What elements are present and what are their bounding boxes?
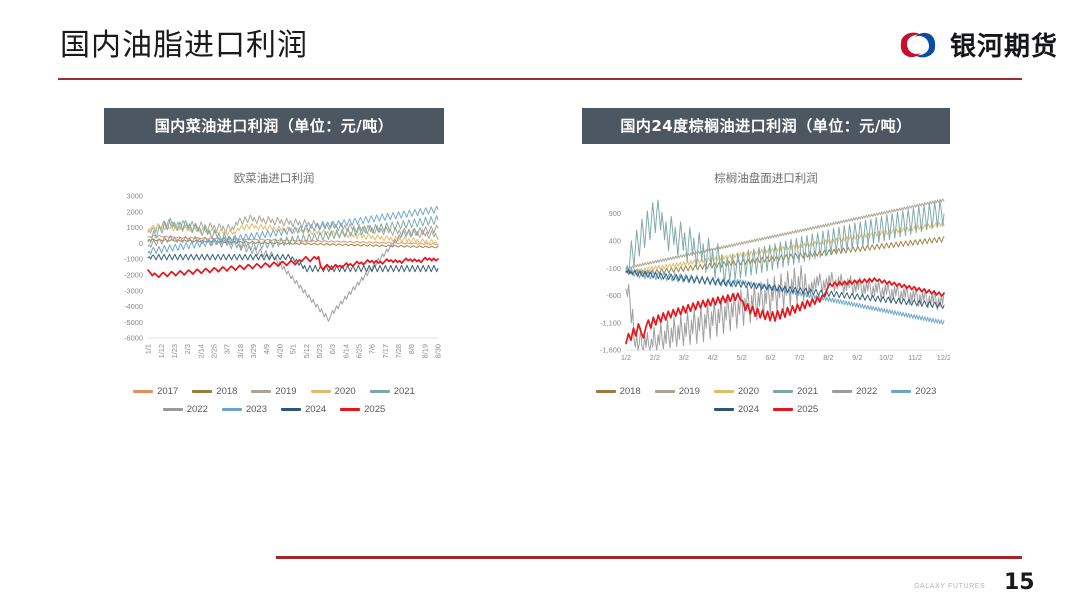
- svg-text:-4000: -4000: [124, 302, 143, 311]
- legend-swatch-2023: [222, 408, 242, 411]
- legend-item-2023[interactable]: 2023: [891, 386, 936, 397]
- chart-left-legend: 201720182019202020212022202320242025: [104, 386, 444, 415]
- svg-text:8/30: 8/30: [434, 344, 443, 358]
- legend-label-2025: 2025: [364, 404, 385, 415]
- legend-label-2020: 2020: [335, 386, 356, 397]
- legend-label-2024: 2024: [738, 404, 759, 415]
- panel-right-header: 国内24度棕榈油进口利润（单位：元/吨）: [582, 108, 950, 144]
- legend-label-2021: 2021: [797, 386, 818, 397]
- svg-text:10/2: 10/2: [879, 353, 893, 362]
- svg-text:2000: 2000: [127, 207, 143, 216]
- legend-label-2019: 2019: [679, 386, 700, 397]
- svg-text:3/2: 3/2: [679, 353, 689, 362]
- legend-item-2022[interactable]: 2022: [163, 404, 208, 415]
- legend-item-2018[interactable]: 2018: [192, 386, 237, 397]
- legend-item-2019[interactable]: 2019: [251, 386, 296, 397]
- legend-item-2025[interactable]: 2025: [340, 404, 385, 415]
- chart-rapeseed-oil-import-profit: 欧菜油进口利润 3000200010000-1000-2000-3000-400…: [104, 170, 444, 415]
- legend-label-2025: 2025: [797, 404, 818, 415]
- svg-text:2/2: 2/2: [650, 353, 660, 362]
- legend-swatch-2019: [251, 390, 271, 393]
- svg-text:8/19: 8/19: [420, 344, 429, 358]
- page-header: 国内油脂进口利润 银河期货: [0, 0, 1080, 88]
- legend-swatch-2020: [714, 390, 734, 393]
- svg-text:2/3: 2/3: [183, 344, 192, 354]
- svg-text:-3000: -3000: [124, 286, 143, 295]
- legend-item-2017[interactable]: 2017: [133, 386, 178, 397]
- svg-text:3/7: 3/7: [223, 344, 232, 354]
- svg-text:-1000: -1000: [124, 255, 143, 264]
- svg-text:-1,600: -1,600: [600, 346, 621, 355]
- svg-text:7/2: 7/2: [794, 353, 804, 362]
- svg-text:400: 400: [609, 237, 621, 246]
- svg-text:3/18: 3/18: [236, 344, 245, 358]
- legend-label-2023: 2023: [246, 404, 267, 415]
- panel-rapeseed-oil: 国内菜油进口利润（单位：元/吨） 欧菜油进口利润 3000200010000-1…: [104, 108, 444, 415]
- legend-item-2020[interactable]: 2020: [311, 386, 356, 397]
- legend-label-2018: 2018: [620, 386, 641, 397]
- svg-text:6/3: 6/3: [328, 344, 337, 354]
- svg-text:5/1: 5/1: [289, 344, 298, 354]
- chart-palm-oil-import-profit: 棕榈油盘面进口利润 900400-100-600-1,100-1,6001/22…: [582, 170, 950, 415]
- legend-swatch-2025: [773, 408, 793, 411]
- footer-divider: [276, 556, 1022, 559]
- legend-item-2019[interactable]: 2019: [655, 386, 700, 397]
- svg-text:7/28: 7/28: [394, 344, 403, 358]
- chart-left-svg: 3000200010000-1000-2000-3000-4000-5000-6…: [104, 190, 444, 370]
- legend-swatch-2022: [832, 390, 852, 393]
- legend-label-2019: 2019: [275, 386, 296, 397]
- chart-left-title: 欧菜油进口利润: [104, 170, 444, 186]
- svg-text:7/6: 7/6: [368, 344, 377, 354]
- legend-item-2020[interactable]: 2020: [714, 386, 759, 397]
- svg-text:5/2: 5/2: [736, 353, 746, 362]
- svg-text:-100: -100: [606, 264, 621, 273]
- panel-palm-oil: 国内24度棕榈油进口利润（单位：元/吨） 棕榈油盘面进口利润 900400-10…: [582, 108, 950, 415]
- svg-text:4/20: 4/20: [275, 344, 284, 358]
- svg-text:11/2: 11/2: [908, 353, 922, 362]
- svg-text:6/14: 6/14: [341, 344, 350, 358]
- svg-text:8/2: 8/2: [823, 353, 833, 362]
- svg-text:8/8: 8/8: [407, 344, 416, 354]
- galaxy-swirl-logo-icon: [895, 28, 941, 62]
- footer-brand-text: GALAXY FUTURES: [914, 583, 985, 590]
- svg-text:5/23: 5/23: [315, 344, 324, 358]
- legend-label-2022: 2022: [187, 404, 208, 415]
- svg-text:3000: 3000: [127, 192, 143, 201]
- legend-item-2023[interactable]: 2023: [222, 404, 267, 415]
- legend-label-2018: 2018: [216, 386, 237, 397]
- legend-swatch-2024: [714, 408, 734, 411]
- svg-text:3/29: 3/29: [249, 344, 258, 358]
- chart-left-plot: 3000200010000-1000-2000-3000-4000-5000-6…: [104, 190, 444, 370]
- svg-text:-5000: -5000: [124, 318, 143, 327]
- chart-right-svg: 900400-100-600-1,100-1,6001/22/23/24/25/…: [582, 190, 950, 370]
- legend-item-2024[interactable]: 2024: [281, 404, 326, 415]
- svg-text:7/17: 7/17: [381, 344, 390, 358]
- svg-text:900: 900: [609, 209, 621, 218]
- svg-text:2/25: 2/25: [210, 344, 219, 358]
- chart-right-legend: 20182019202020212022202320242025: [582, 386, 950, 415]
- svg-text:-600: -600: [606, 291, 621, 300]
- legend-item-2024[interactable]: 2024: [714, 404, 759, 415]
- legend-swatch-2018: [192, 390, 212, 393]
- svg-text:1/23: 1/23: [170, 344, 179, 358]
- header-divider: [58, 78, 1022, 80]
- svg-text:-2000: -2000: [124, 270, 143, 279]
- svg-text:4/2: 4/2: [708, 353, 718, 362]
- legend-label-2020: 2020: [738, 386, 759, 397]
- legend-item-2022[interactable]: 2022: [832, 386, 877, 397]
- legend-label-2021: 2021: [394, 386, 415, 397]
- svg-text:2/14: 2/14: [196, 344, 205, 358]
- legend-swatch-2025: [340, 408, 360, 411]
- legend-label-2024: 2024: [305, 404, 326, 415]
- legend-swatch-2019: [655, 390, 675, 393]
- svg-text:6/2: 6/2: [765, 353, 775, 362]
- legend-item-2018[interactable]: 2018: [596, 386, 641, 397]
- legend-swatch-2021: [773, 390, 793, 393]
- svg-text:1/1: 1/1: [144, 344, 153, 354]
- chart-right-plot: 900400-100-600-1,100-1,6001/22/23/24/25/…: [582, 190, 950, 370]
- legend-label-2017: 2017: [157, 386, 178, 397]
- legend-swatch-2017: [133, 390, 153, 393]
- svg-text:-1,100: -1,100: [600, 318, 621, 327]
- legend-item-2021[interactable]: 2021: [370, 386, 415, 397]
- legend-swatch-2021: [370, 390, 390, 393]
- svg-text:0: 0: [139, 239, 143, 248]
- page-number: 15: [1004, 570, 1035, 595]
- svg-text:1/2: 1/2: [621, 353, 631, 362]
- svg-text:4/9: 4/9: [262, 344, 271, 354]
- legend-swatch-2023: [891, 390, 911, 393]
- svg-text:6/25: 6/25: [355, 344, 364, 358]
- legend-swatch-2024: [281, 408, 301, 411]
- legend-label-2023: 2023: [915, 386, 936, 397]
- legend-item-2021[interactable]: 2021: [773, 386, 818, 397]
- page-title: 国内油脂进口利润: [60, 20, 308, 64]
- legend-swatch-2018: [596, 390, 616, 393]
- chart-right-title: 棕榈油盘面进口利润: [582, 170, 950, 186]
- panel-left-header: 国内菜油进口利润（单位：元/吨）: [104, 108, 444, 144]
- legend-swatch-2020: [311, 390, 331, 393]
- svg-text:9/2: 9/2: [852, 353, 862, 362]
- brand-lockup: 银河期货: [895, 26, 1058, 63]
- svg-text:1/12: 1/12: [157, 344, 166, 358]
- svg-text:1000: 1000: [127, 223, 143, 232]
- svg-text:12/2: 12/2: [937, 353, 950, 362]
- svg-text:-6000: -6000: [124, 334, 143, 343]
- brand-name: 银河期货: [950, 26, 1058, 63]
- svg-text:5/12: 5/12: [302, 344, 311, 358]
- legend-item-2025[interactable]: 2025: [773, 404, 818, 415]
- legend-swatch-2022: [163, 408, 183, 411]
- legend-label-2022: 2022: [856, 386, 877, 397]
